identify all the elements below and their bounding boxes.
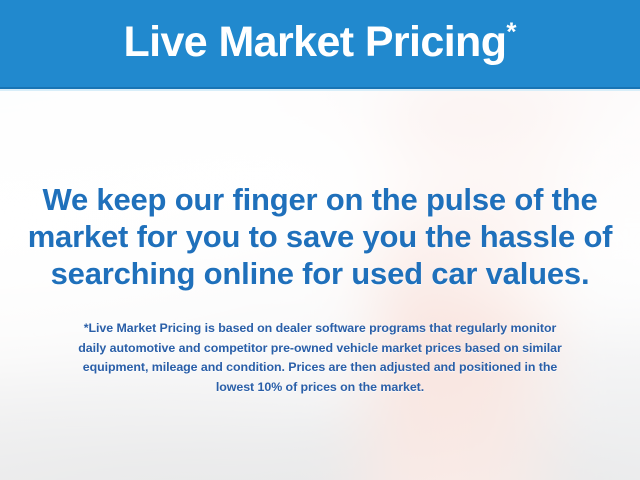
live-market-pricing-banner: Live Market Pricing* We keep our finger … (0, 0, 640, 480)
disclaimer-line-2: daily automotive and competitor pre-owne… (24, 339, 616, 359)
header-underline-divider (0, 89, 640, 91)
page-title-asterisk: * (506, 17, 516, 47)
disclaimer-footnote: *Live Market Pricing is based on dealer … (0, 319, 640, 397)
content-area: We keep our finger on the pulse of the m… (0, 91, 640, 480)
page-title: Live Market Pricing* (123, 21, 516, 66)
disclaimer-line-1: *Live Market Pricing is based on dealer … (24, 319, 616, 339)
disclaimer-line-3: equipment, mileage and condition. Prices… (24, 358, 616, 378)
header-bar: Live Market Pricing* (0, 0, 640, 89)
headline-line-3: searching online for used car values. (18, 255, 622, 292)
headline-line-1: We keep our finger on the pulse of the (18, 181, 622, 218)
headline: We keep our finger on the pulse of the m… (0, 181, 640, 292)
page-title-text: Live Market Pricing (123, 18, 506, 66)
headline-line-2: market for you to save you the hassle of (18, 218, 622, 255)
disclaimer-line-4: lowest 10% of prices on the market. (24, 378, 616, 398)
